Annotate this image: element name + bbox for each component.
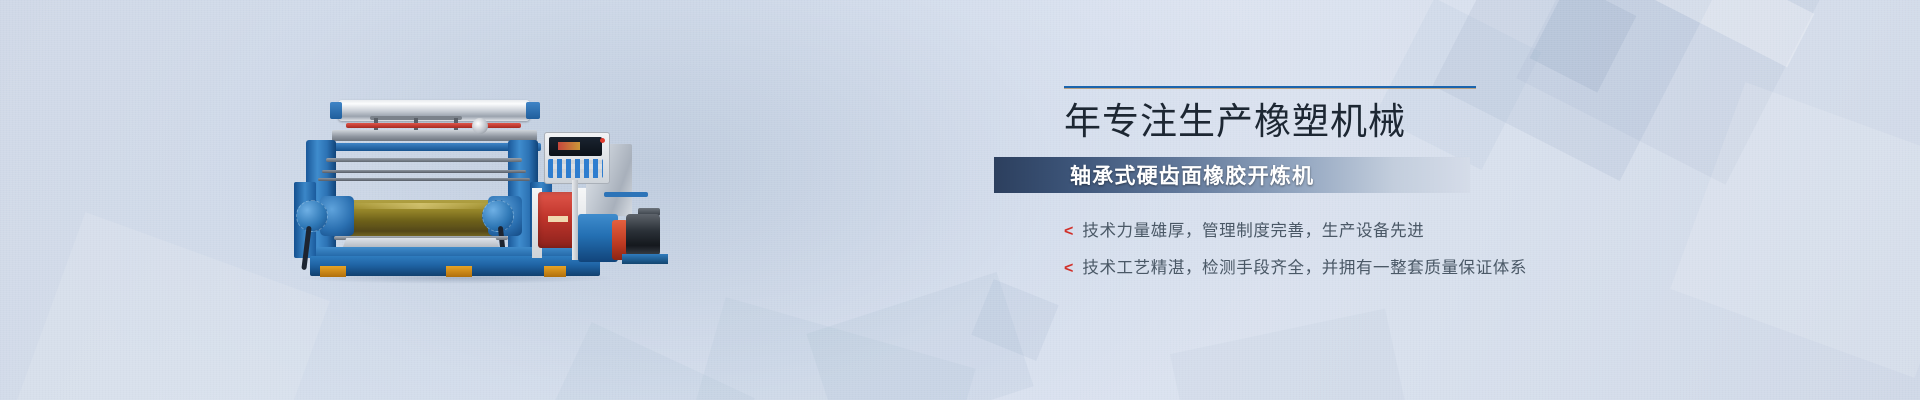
base-foot xyxy=(320,266,346,277)
tie-rod xyxy=(326,158,522,162)
feature-text: 技术力量雄厚，管理制度完善，生产设备先进 xyxy=(1082,217,1424,241)
top-roller-cap-right xyxy=(526,102,540,119)
feature-list: < 技术力量雄厚，管理制度完善，生产设备先进 < 技术工艺精湛，检测手段齐全，并… xyxy=(1064,217,1584,278)
base-foot xyxy=(446,266,472,277)
motor-base xyxy=(622,254,668,264)
control-panel-buttons xyxy=(548,159,603,178)
banner-text-block: 年专注生产橡塑机械 轴承式硬齿面橡胶开炼机 < 技术力量雄厚，管理制度完善，生产… xyxy=(1064,86,1584,291)
emergency-stop-icon xyxy=(600,138,605,143)
tie-rod xyxy=(322,170,526,173)
feature-text: 技术工艺精湛，检测手段齐全，并拥有一整套质量保证体系 xyxy=(1082,254,1527,278)
chevron-left-icon: < xyxy=(1064,224,1073,240)
list-item: < 技术力量雄厚，管理制度完善，生产设备先进 xyxy=(1064,217,1584,241)
base-foot xyxy=(544,266,566,277)
product-name-label: 轴承式硬齿面橡胶开炼机 xyxy=(1070,160,1314,190)
gearbox-nameplate xyxy=(548,216,568,222)
adjust-knob-left xyxy=(296,200,328,232)
divider-tan-line xyxy=(1064,88,1476,89)
product-image-rubber-open-mixing-mill xyxy=(286,96,648,274)
top-roller-cap-left xyxy=(330,102,342,119)
product-name-bar: 轴承式硬齿面橡胶开炼机 xyxy=(994,157,1470,193)
upper-red-bar xyxy=(346,123,521,128)
upper-gray-bar xyxy=(332,130,537,141)
fan-wheel xyxy=(472,118,488,134)
list-item: < 技术工艺精湛，检测手段齐全，并拥有一整套质量保证体系 xyxy=(1064,254,1584,278)
chevron-left-icon: < xyxy=(1064,261,1073,277)
control-panel-readout xyxy=(558,142,580,150)
tie-rod xyxy=(318,178,530,181)
promo-banner: 年专注生产橡塑机械 轴承式硬齿面橡胶开炼机 < 技术力量雄厚，管理制度完善，生产… xyxy=(0,0,1920,400)
conduit xyxy=(604,192,648,197)
main-roller-highlight xyxy=(348,203,494,209)
page-title: 年专注生产橡塑机械 xyxy=(1002,103,1584,143)
electric-motor xyxy=(626,214,660,256)
headline-divider xyxy=(1064,86,1476,89)
